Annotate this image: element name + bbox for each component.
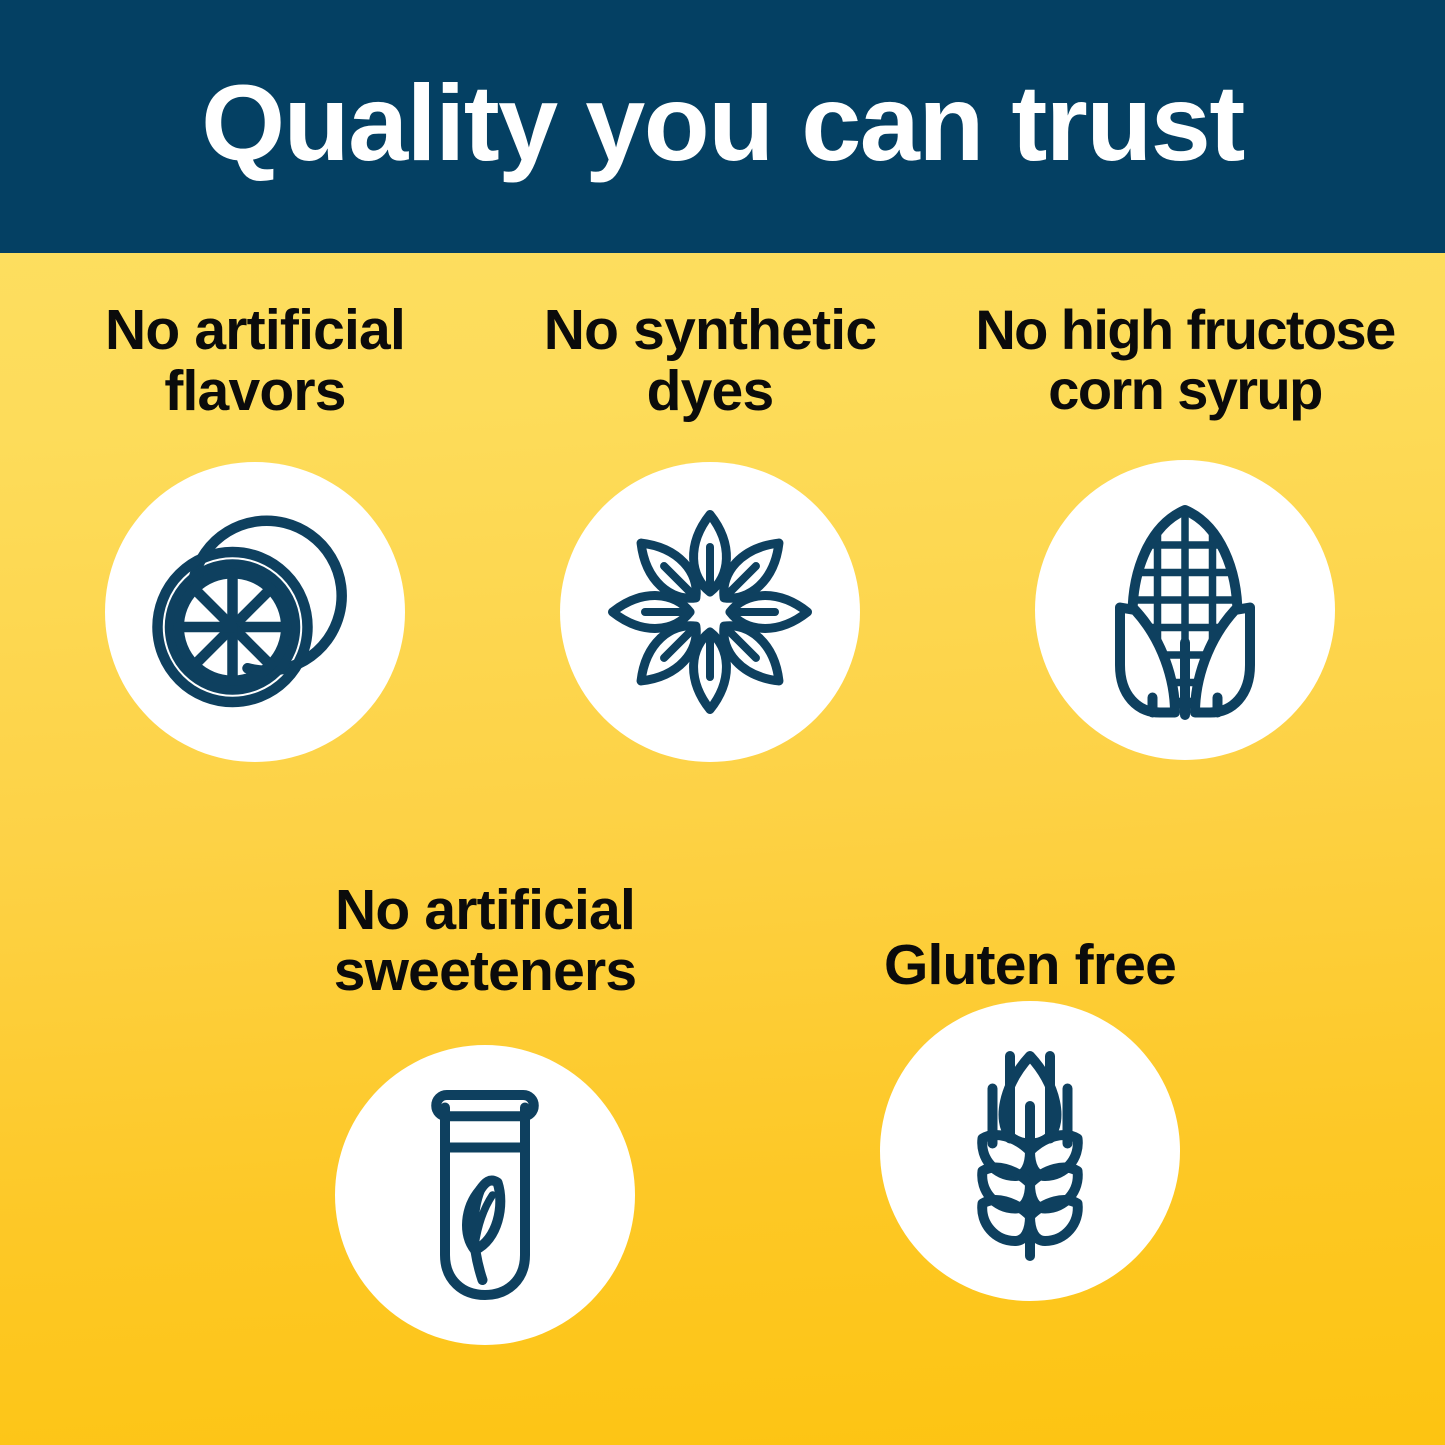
page-title: Quality you can trust: [171, 69, 1274, 177]
icon-badge-gluten-free: [880, 1001, 1180, 1301]
flower-petals-icon: [585, 487, 835, 737]
claim-gluten-free: Gluten free: [800, 880, 1260, 1241]
icon-badge-no-artificial-flavors: [105, 462, 405, 762]
icon-badge-no-high-fructose-corn-syrup: [1035, 460, 1335, 760]
test-tube-leaf-icon: [360, 1070, 610, 1320]
claim-no-artificial-flavors: No artificial flavors: [25, 300, 485, 762]
claim-label-no-artificial-flavors: No artificial flavors: [105, 300, 405, 422]
claim-label-no-artificial-sweeteners: No artificial sweeteners: [334, 880, 637, 1002]
header-banner: Quality you can trust: [0, 0, 1445, 253]
claim-no-high-fructose-corn-syrup: No high fructose corn syrup: [935, 300, 1435, 760]
icon-badge-no-synthetic-dyes: [560, 462, 860, 762]
claim-label-no-synthetic-dyes: No synthetic dyes: [544, 300, 876, 422]
corn-cob-icon: [1060, 485, 1310, 735]
citrus-slice-icon: [130, 487, 380, 737]
claim-label-gluten-free: Gluten free: [884, 935, 1176, 996]
icon-badge-no-artificial-sweeteners: [335, 1045, 635, 1345]
quality-infographic: Quality you can trust No artificial flav…: [0, 0, 1445, 1445]
claim-no-synthetic-dyes: No synthetic dyes: [480, 300, 940, 762]
claim-no-artificial-sweeteners: No artificial sweeteners: [255, 880, 715, 1345]
claim-label-no-high-fructose-corn-syrup: No high fructose corn syrup: [975, 300, 1394, 420]
wheat-stalk-icon: [905, 1026, 1155, 1276]
